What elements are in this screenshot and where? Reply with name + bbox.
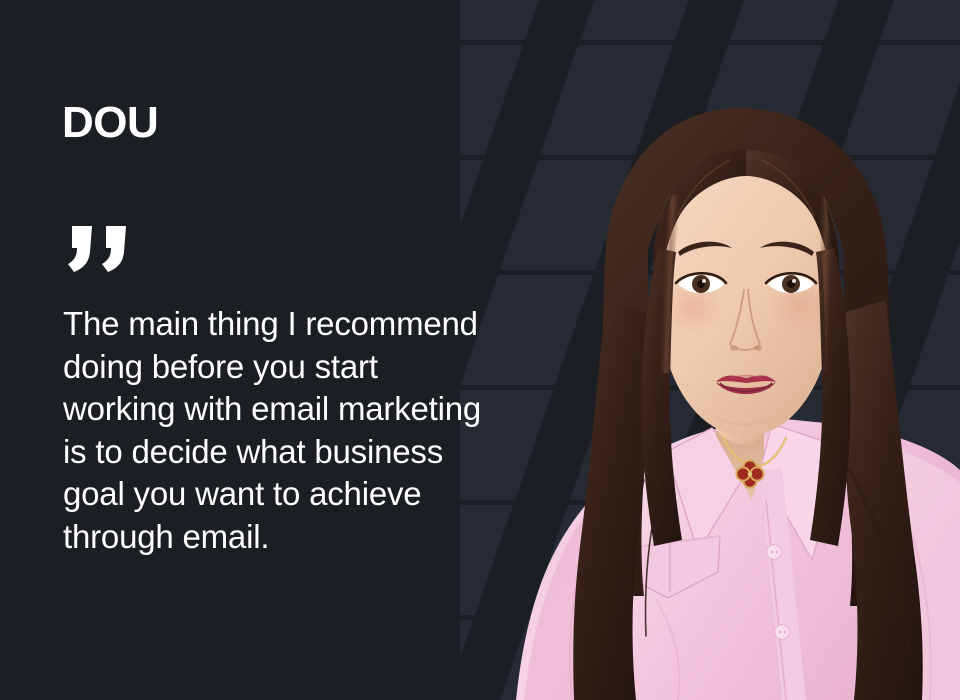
portrait-photo	[430, 0, 960, 700]
content-column: DOU The main thing I recommend doing bef…	[0, 0, 500, 700]
quote-mark-icon	[68, 226, 130, 272]
quote-card: DOU The main thing I recommend doing bef…	[0, 0, 960, 700]
quote-text: The main thing I recommend doing before …	[63, 303, 493, 558]
dou-logo[interactable]: DOU	[62, 101, 158, 145]
